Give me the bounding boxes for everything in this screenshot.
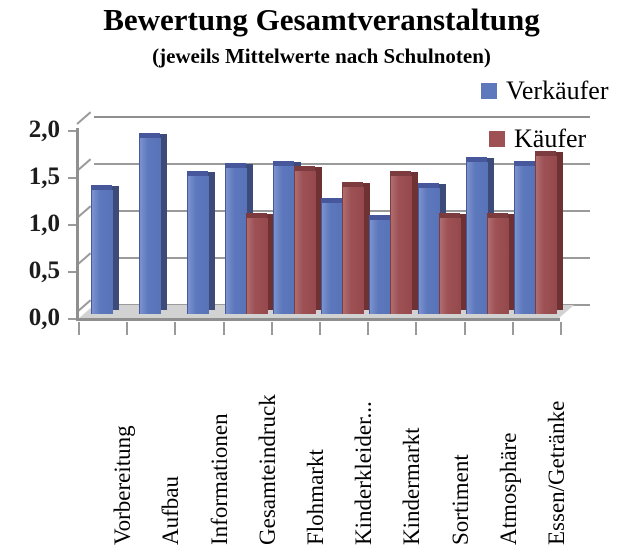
x-axis-tick-mark (271, 322, 273, 335)
bar-verkäufer-9 (514, 166, 535, 314)
chart-figure: Bewertung Gesamtveranstaltung (jeweils M… (0, 0, 643, 553)
bar-verkäufer-8 (466, 162, 487, 314)
bar-verkäufer-5 (321, 203, 342, 314)
bar-front-face (342, 187, 364, 314)
x-axis-tick-mark (174, 322, 176, 335)
bar-käufer-3 (246, 218, 267, 314)
bar-front-face (187, 176, 209, 314)
y-axis-tick-label: 0,0 (8, 305, 60, 330)
x-axis-category-label: Vorbereitung (111, 425, 134, 545)
x-axis-tick-mark (464, 322, 466, 335)
bar-front-face (466, 162, 488, 314)
x-axis-category-label: Gesamteindruck (256, 394, 279, 545)
bar-front-face (225, 168, 247, 314)
plot-area: 0,00,51,01,52,0VorbereitungAufbauInforma… (0, 0, 643, 553)
bar-front-face (294, 171, 316, 314)
bar-front-face (139, 138, 161, 314)
bar-käufer-9 (535, 156, 556, 314)
x-axis-tick-mark (367, 322, 369, 335)
gridline-connector-2,0 (76, 111, 91, 124)
x-axis-category-label: Sortiment (449, 454, 472, 545)
bar-side-face (556, 152, 563, 310)
y-axis-tick-label: 1,5 (8, 164, 60, 189)
bar-verkäufer-3 (225, 168, 246, 314)
bar-verkäufer-7 (418, 188, 439, 314)
bar-front-face (246, 218, 268, 314)
bar-front-face (418, 188, 440, 314)
bar-front-face (439, 218, 461, 314)
x-axis-tick-mark (512, 322, 514, 335)
bar-käufer-8 (487, 218, 508, 314)
y-axis-tick-label: 0,5 (8, 258, 60, 283)
x-axis-line (76, 318, 560, 321)
bar-front-face (91, 190, 113, 314)
bar-side-face (208, 172, 215, 310)
bar-verkäufer-0 (91, 190, 112, 314)
bar-front-face (321, 203, 343, 314)
bar-front-face (273, 166, 295, 314)
bar-verkäufer-2 (187, 176, 208, 314)
x-axis-tick-mark (78, 322, 80, 335)
bar-käufer-4 (294, 171, 315, 314)
x-axis-tick-mark (223, 322, 225, 335)
x-axis-tick-mark (126, 322, 128, 335)
bar-verkäufer-1 (139, 138, 160, 314)
bar-käufer-6 (390, 176, 411, 314)
x-axis-category-label: Kinderkleider... (352, 401, 375, 545)
x-axis-tick-mark (560, 322, 562, 335)
x-axis-category-label: Informationen (208, 413, 231, 545)
x-axis-tick-mark (319, 322, 321, 335)
bar-käufer-7 (439, 218, 460, 314)
x-axis-category-label: Atmosphäre (497, 433, 520, 545)
x-axis-category-label: Essen/Getränke (545, 401, 568, 545)
bar-side-face (160, 134, 167, 310)
bar-verkäufer-6 (369, 220, 390, 314)
y-axis-line (76, 128, 79, 320)
bar-side-face (112, 186, 119, 310)
bar-front-face (535, 156, 557, 314)
bar-verkäufer-4 (273, 166, 294, 314)
y-axis-tick-label: 1,0 (8, 211, 60, 236)
bar-front-face (390, 176, 412, 314)
bar-front-face (369, 220, 391, 314)
bar-front-face (514, 166, 536, 314)
x-axis-category-label: Flohmarkt (304, 449, 327, 545)
x-axis-tick-mark (415, 322, 417, 335)
y-axis-tick-label: 2,0 (8, 117, 60, 142)
gridline-2,0 (94, 116, 590, 118)
bar-front-face (487, 218, 509, 314)
x-axis-category-label: Kindermarkt (400, 427, 423, 545)
x-axis-category-label: Aufbau (159, 476, 182, 545)
bar-käufer-5 (342, 187, 363, 314)
